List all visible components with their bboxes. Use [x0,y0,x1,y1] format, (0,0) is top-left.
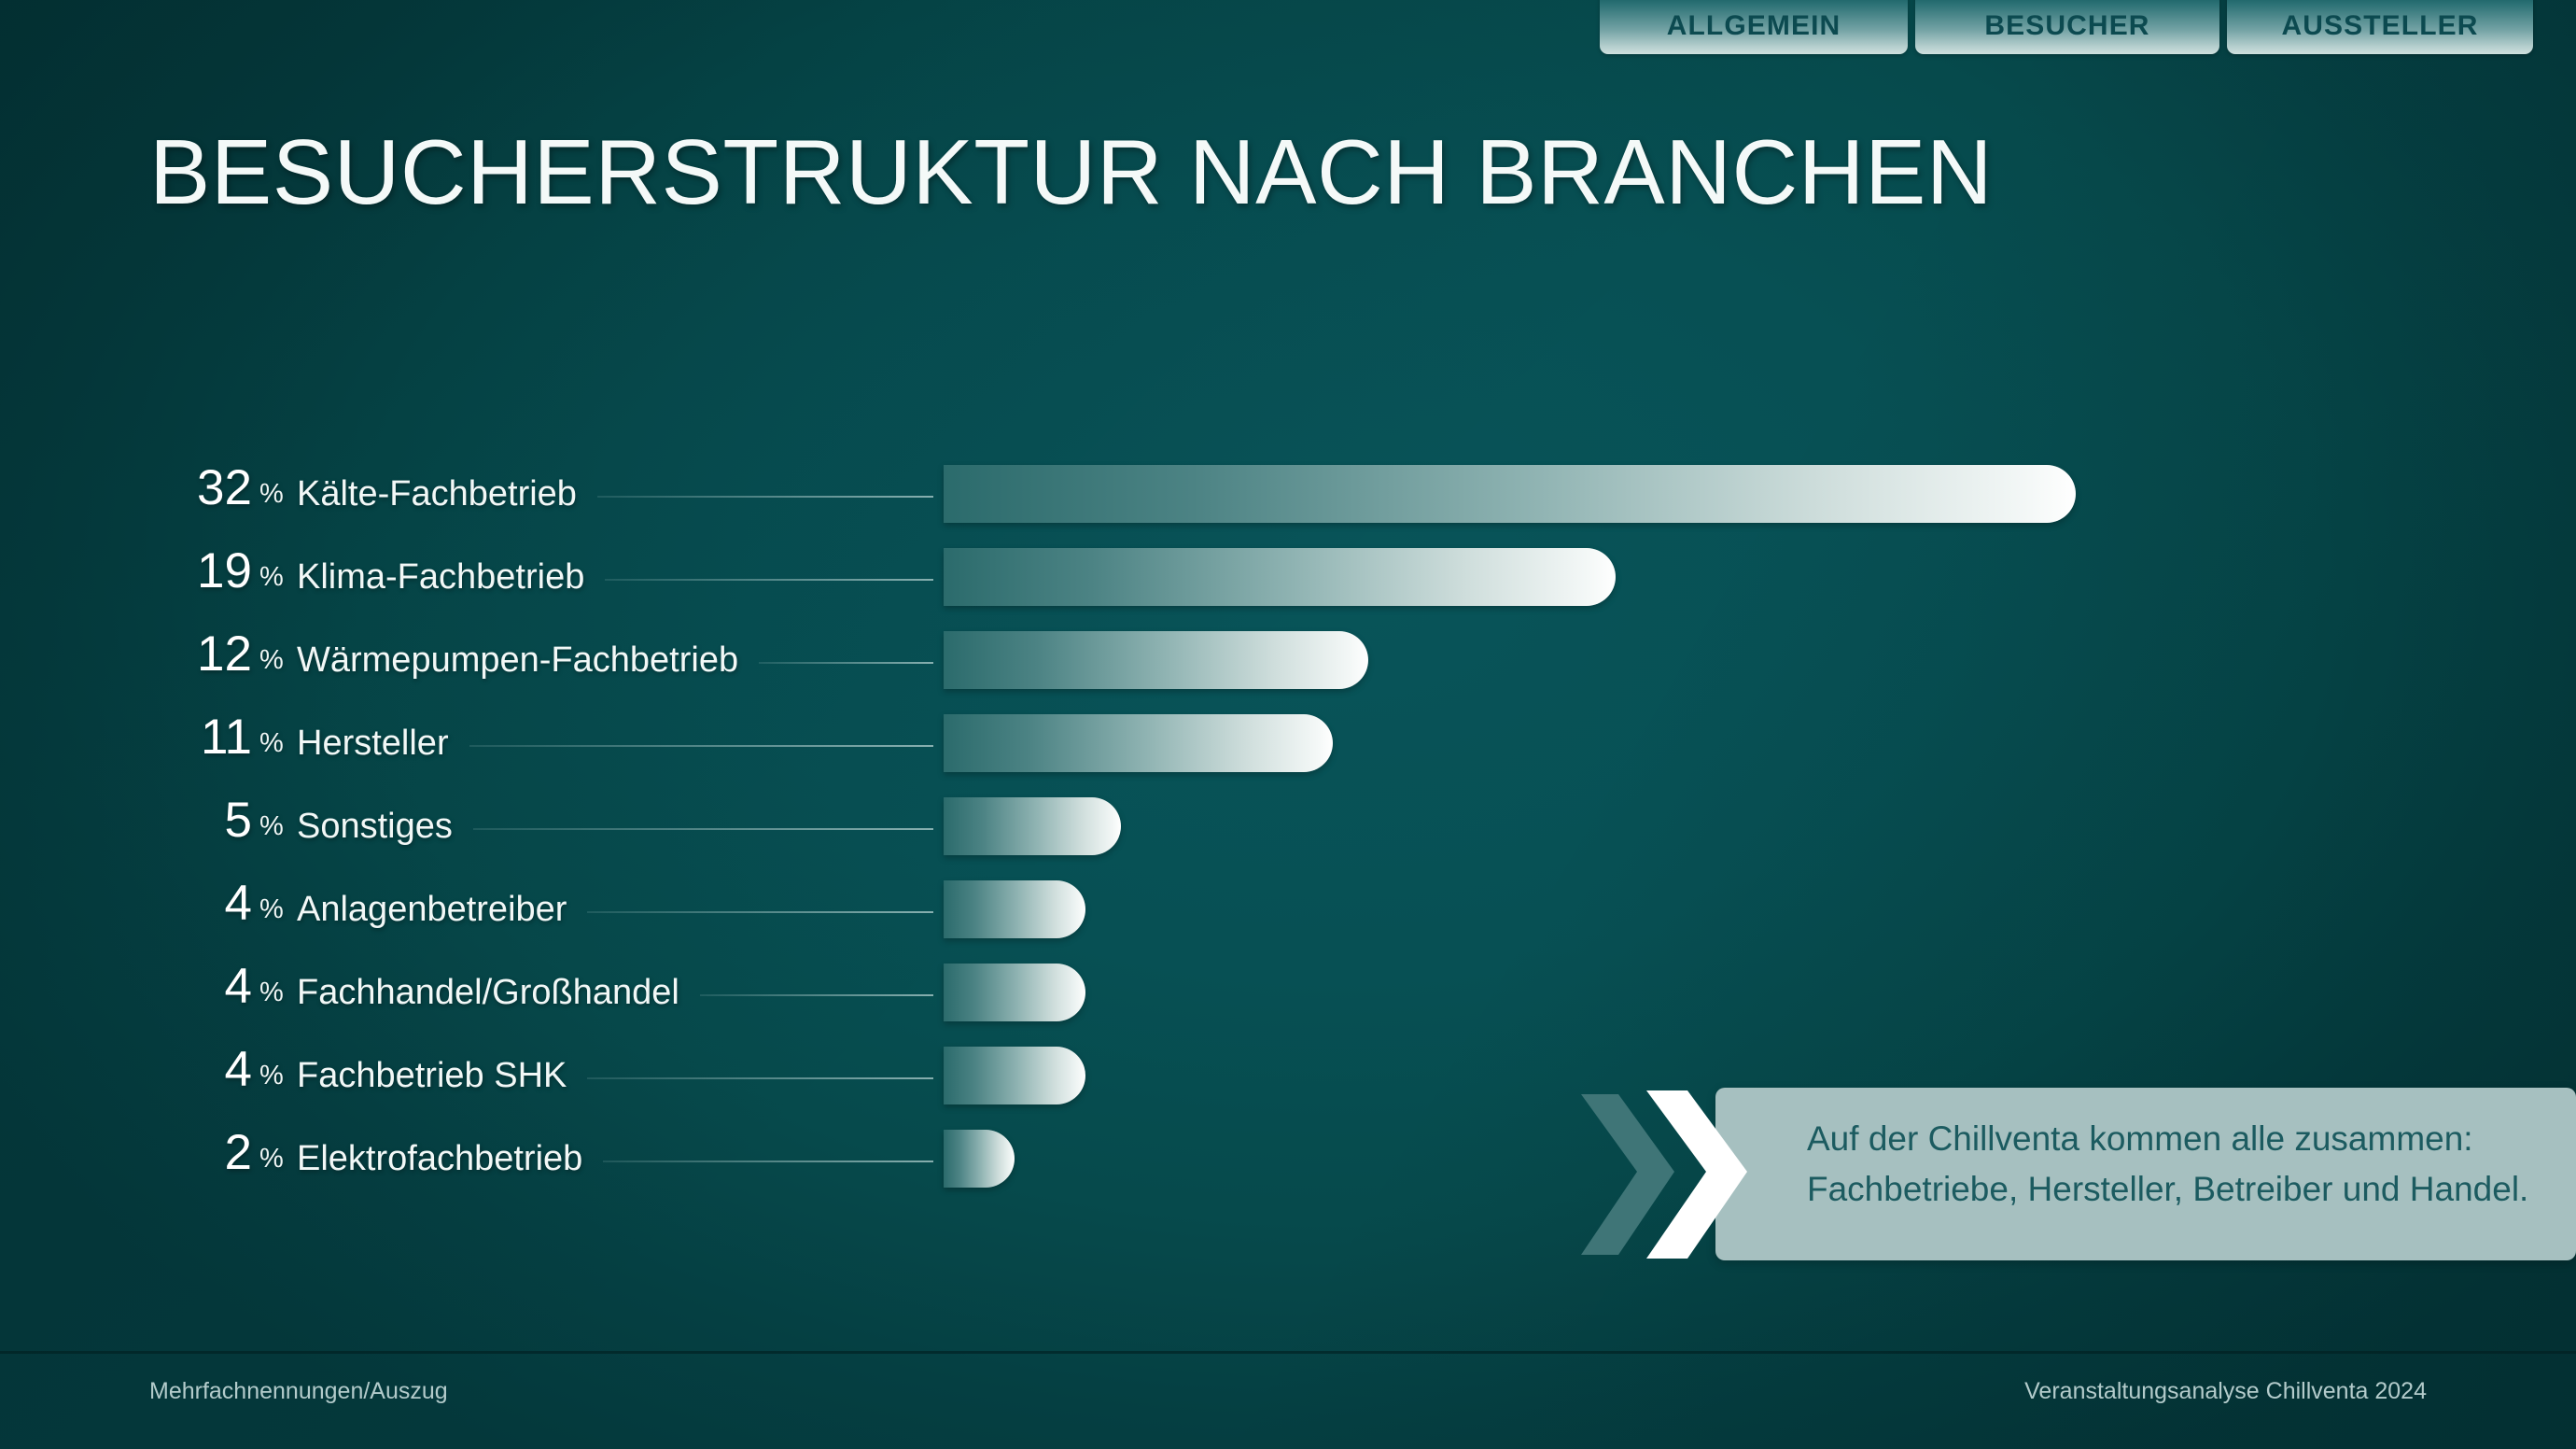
page-title: BESUCHERSTRUKTUR NACH BRANCHEN [149,120,1993,225]
bar-category-label: Fachbetrieb SHK [297,1055,567,1098]
percent-sign: % [259,647,284,674]
bar-value: 4 [140,1045,252,1094]
percent-sign: % [259,813,284,840]
leader-line [759,662,933,664]
bar-row: 19%Klima-Fachbetrieb [0,541,2576,624]
percent-sign: % [259,481,284,508]
leader-line [605,579,933,581]
bar [944,548,1616,606]
footer-divider [0,1351,2576,1354]
leader-line [597,496,933,498]
bar-category-label: Fachhandel/Großhandel [297,972,679,1015]
leader-line [587,1077,933,1079]
footer-source: Veranstaltungsanalyse Chillventa 2024 [2024,1378,2427,1405]
percent-sign: % [259,1146,284,1173]
percent-sign: % [259,564,284,591]
double-chevron-right-icon [1570,1081,1775,1268]
tab-label: BESUCHER [1984,10,2149,42]
tab-label: ALLGEMEIN [1667,10,1841,42]
footer-note: Mehrfachnennungen/Auszug [149,1378,448,1405]
bar-row: 4%Fachhandel/Großhandel [0,956,2576,1039]
bar [944,631,1368,689]
leader-line [469,745,933,747]
callout-box: Auf der Chillventa kommen alle zusammen:… [1715,1088,2576,1260]
bar-row: 32%Kälte-Fachbetrieb [0,457,2576,541]
bar-row: 4%Anlagenbetreiber [0,873,2576,956]
bar-category-label: Elektrofachbetrieb [297,1138,582,1181]
bar-category-label: Anlagenbetreiber [297,889,567,932]
bar-category-label: Wärmepumpen-Fachbetrieb [297,640,738,682]
bar-value: 5 [140,795,252,845]
leader-line [700,994,933,996]
bar-value: 19 [140,546,252,596]
bar [944,465,2076,523]
tab-label: AUSSTELLER [2281,10,2478,42]
bar [944,797,1121,855]
leader-line [473,828,933,830]
bar-value: 11 [140,712,252,762]
bar [944,880,1085,938]
bar-value: 32 [140,463,252,513]
tab-aussteller[interactable]: AUSSTELLER [2227,0,2533,54]
tab-allgemein[interactable]: ALLGEMEIN [1600,0,1908,54]
bar-value: 4 [140,879,252,928]
percent-sign: % [259,1062,284,1090]
bar-value: 2 [140,1128,252,1177]
bar-category-label: Hersteller [297,723,449,766]
bar-category-label: Klima-Fachbetrieb [297,556,584,599]
slide-root: ALLGEMEIN BESUCHER AUSSTELLER BESUCHERST… [0,0,2576,1449]
percent-sign: % [259,730,284,757]
bar [944,714,1333,772]
percent-sign: % [259,896,284,923]
bar-row: 11%Hersteller [0,707,2576,790]
bar [944,964,1085,1021]
percent-sign: % [259,979,284,1006]
bar [944,1047,1085,1104]
callout-line-2: Fachbetriebe, Hersteller, Betreiber und … [1807,1164,2576,1215]
bar-row: 12%Wärmepumpen-Fachbetrieb [0,624,2576,707]
bar-value: 12 [140,629,252,679]
bar-category-label: Kälte-Fachbetrieb [297,473,577,516]
leader-line [587,911,933,913]
tab-bar: ALLGEMEIN BESUCHER AUSSTELLER [1600,0,2533,54]
bar-category-label: Sonstiges [297,806,453,849]
leader-line [603,1161,933,1162]
bar [944,1130,1015,1188]
bar-row: 5%Sonstiges [0,790,2576,873]
bar-value: 4 [140,962,252,1011]
tab-besucher[interactable]: BESUCHER [1915,0,2219,54]
callout-line-1: Auf der Chillventa kommen alle zusammen: [1807,1114,2576,1164]
